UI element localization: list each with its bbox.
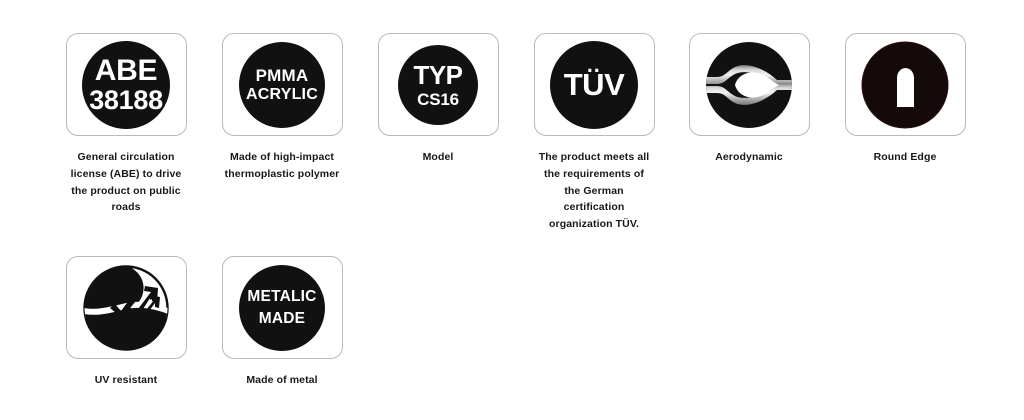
feature-item-aerodynamic: Aerodynamic [671, 33, 827, 166]
feature-label-round-edge: Round Edge [827, 149, 983, 166]
feature-item-abe: ABE 38188 General circulation license (A… [48, 33, 204, 216]
round-edge-arch-icon [861, 41, 949, 129]
feature-label-model: Model [360, 149, 516, 166]
pmma-badge-line1: PMMA [256, 67, 309, 84]
feature-label-uv-resistant: UV resistant [48, 372, 204, 389]
badge-card-model: TYP CS16 [378, 33, 499, 136]
feature-label-pmma: Made of high-impact thermoplastic polyme… [204, 149, 360, 183]
typ-badge-line2: CS16 [417, 91, 459, 108]
abe-badge-line1: ABE [95, 56, 157, 86]
badge-card-round-edge [845, 33, 966, 136]
aerodynamic-airflow-icon [705, 41, 793, 129]
tuv-circle-badge-icon: TÜV [550, 41, 638, 129]
badge-card-made-of-metal: METALIC MADE [222, 256, 343, 359]
feature-label-aerodynamic: Aerodynamic [671, 149, 827, 166]
pmma-badge-line2: ACRYLIC [246, 87, 318, 103]
pmma-acrylic-circle-badge-icon: PMMA ACRYLIC [239, 42, 325, 128]
metal-badge-line2: MADE [259, 311, 305, 327]
badge-card-aerodynamic [689, 33, 810, 136]
feature-item-round-edge: Round Edge [827, 33, 983, 166]
abe-circle-badge-icon: ABE 38188 [82, 41, 170, 129]
feature-item-made-of-metal: METALIC MADE Made of metal [204, 256, 360, 389]
uv-sun-resistant-icon [82, 264, 170, 352]
typ-cs16-circle-badge-icon: TYP CS16 [398, 45, 478, 125]
feature-label-abe: General circulation license (ABE) to dri… [48, 149, 204, 216]
feature-badge-grid: ABE 38188 General circulation license (A… [0, 0, 1024, 420]
badge-card-pmma: PMMA ACRYLIC [222, 33, 343, 136]
feature-label-made-of-metal: Made of metal [204, 372, 360, 389]
feature-item-pmma: PMMA ACRYLIC Made of high-impact thermop… [204, 33, 360, 183]
feature-item-model: TYP CS16 Model [360, 33, 516, 166]
feature-item-uv-resistant: UV resistant [48, 256, 204, 389]
tuv-badge-line1: TÜV [564, 69, 625, 100]
abe-badge-line2: 38188 [89, 87, 163, 114]
metal-badge-line1: METALIC [247, 289, 316, 305]
badge-card-abe: ABE 38188 [66, 33, 187, 136]
feature-label-tuv: The product meets all the requirements o… [516, 149, 672, 233]
metalic-made-circle-badge-icon: METALIC MADE [239, 265, 325, 351]
typ-badge-line1: TYP [413, 62, 462, 88]
badge-card-uv-resistant [66, 256, 187, 359]
badge-card-tuv: TÜV [534, 33, 655, 136]
feature-item-tuv: TÜV The product meets all the requiremen… [516, 33, 672, 233]
